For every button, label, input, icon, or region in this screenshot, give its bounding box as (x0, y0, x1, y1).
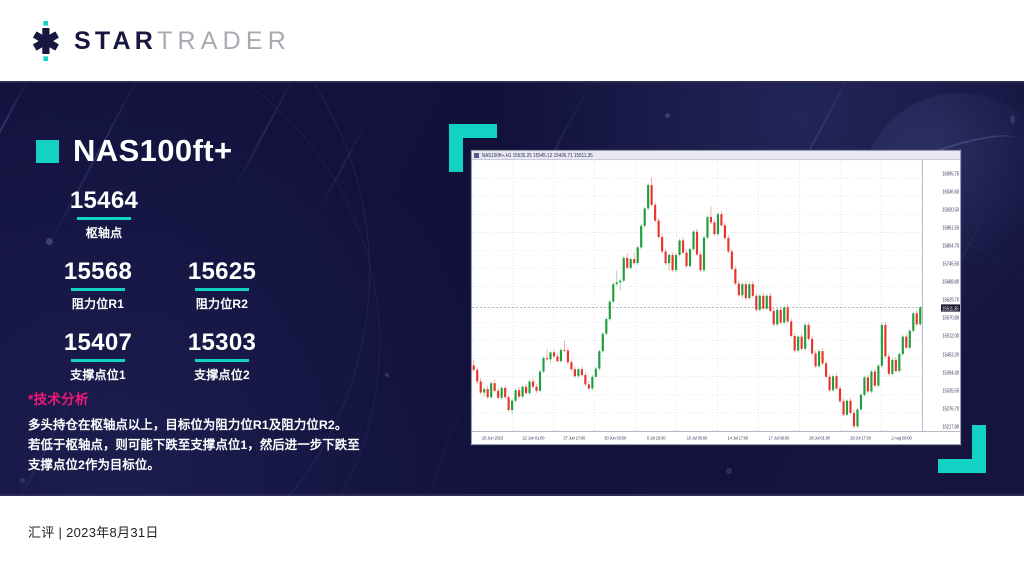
resistance-1-block: 15568 阻力位R1 (36, 259, 160, 312)
price-tick-label: 15688.80 (942, 279, 959, 285)
price-tick-label: 15217.80 (942, 423, 959, 429)
chart-window-icon (474, 153, 479, 158)
chart-price-axis: 16095.7516036.6015920.5015861.5015804.70… (922, 160, 960, 431)
value-underline (71, 359, 125, 362)
time-tick-label: 22 Jun 01:00 (522, 435, 544, 441)
price-tick-label: 15629.70 (942, 297, 959, 303)
analysis-line-2: 若低于枢轴点，则可能下跌至支撑点位1，然后进一步下跌至 (28, 435, 408, 455)
current-price-label: 15511.35 (941, 305, 959, 312)
brand-name-light: TRADER (157, 27, 291, 56)
price-tick-label: 15804.70 (942, 243, 959, 249)
time-tick-label: 10 Jul 05:00 (687, 435, 708, 441)
chart-titlebar-text: NAS100ft+,H1 15535.25 15545.12 15495.71 … (482, 152, 593, 158)
price-tick-label: 15512.00 (942, 333, 959, 339)
resistance-2-value: 15625 (160, 259, 284, 285)
title-bullet-square-icon (36, 140, 59, 163)
resistance-2-label: 阻力位R2 (160, 295, 284, 312)
time-tick-label: 26 Jul 01:00 (809, 435, 830, 441)
time-tick-label: 29 Jul 17:00 (850, 435, 871, 441)
brand-logo: STAR TRADER (28, 21, 291, 61)
chart-titlebar: NAS100ft+,H1 15535.25 15545.12 15495.71 … (472, 151, 960, 160)
price-tick-label: 16095.75 (942, 170, 959, 176)
resistance-1-value: 15568 (36, 259, 160, 285)
footer-divider (0, 494, 1024, 496)
value-underline (195, 288, 249, 291)
pivot-point-value: 15464 (42, 188, 166, 214)
analysis-line-1: 多头持仓在枢轴点以上，目标位为阻力位R1及阻力位R2。 (28, 415, 408, 435)
instrument-symbol: NAS100ft+ (73, 133, 233, 169)
pivot-point-block: 15464 枢轴点 (42, 188, 166, 241)
glow-dot-decoration (665, 113, 670, 118)
slide-root: STAR TRADER NAS100ft+ (0, 0, 1024, 576)
support-1-label: 支撑点位1 (36, 366, 160, 383)
footer: 汇评 | 2023年8月31日 (0, 494, 1024, 576)
header: STAR TRADER (0, 0, 1024, 82)
price-tick-label: 15570.80 (942, 315, 959, 321)
pivot-point-label: 枢轴点 (42, 224, 166, 241)
analysis-line-3: 支撑点位2作为目标位。 (28, 455, 408, 475)
instrument-title: NAS100ft+ (36, 133, 233, 169)
footer-caption: 汇评 | 2023年8月31日 (28, 522, 159, 541)
time-tick-label: 30 Jun 03:00 (604, 435, 626, 441)
technical-analysis: *技术分析 多头持仓在枢轴点以上，目标位为阻力位R1及阻力位R2。 若低于枢轴点… (28, 388, 408, 475)
time-tick-label: 14 Jul 17:00 (728, 435, 749, 441)
glow-dot-decoration (20, 478, 25, 483)
value-underline (77, 217, 131, 220)
price-tick-label: 16036.60 (942, 188, 959, 194)
brand-wordmark: STAR TRADER (74, 27, 291, 56)
support-1-value: 15407 (36, 330, 160, 356)
glow-dot-decoration (726, 468, 732, 474)
glow-dot-decoration (385, 373, 389, 377)
price-tick-label: 15335.50 (942, 387, 959, 393)
time-tick-label: 20 Jun 2023 (482, 435, 503, 441)
support-2-label: 支撑点位2 (160, 366, 284, 383)
price-tick-label: 15453.20 (942, 351, 959, 357)
chart-time-axis: 20 Jun 202322 Jun 01:0027 Jun 17:0030 Ju… (472, 431, 960, 444)
chart-plot-area (472, 160, 922, 431)
resistance-2-block: 15625 阻力位R2 (160, 259, 284, 312)
resistance-1-label: 阻力位R1 (36, 295, 160, 312)
support-2-value: 15303 (160, 330, 284, 356)
glow-dot-decoration (1010, 115, 1015, 124)
support-1-block: 15407 支撑点位1 (36, 330, 160, 383)
price-tick-label: 15394.30 (942, 369, 959, 375)
price-chart-window[interactable]: NAS100ft+,H1 15535.25 15545.12 15495.71 … (471, 150, 961, 445)
support-2-block: 15303 支撑点位2 (160, 330, 284, 383)
brand-name-bold: STAR (74, 27, 157, 56)
pivot-levels: 15464 枢轴点 15568 阻力位R1 15625 阻力位R2 15407 … (36, 188, 296, 391)
value-underline (195, 359, 249, 362)
price-tick-label: 15861.50 (942, 225, 959, 231)
analysis-heading: *技术分析 (28, 388, 408, 408)
price-tick-label: 15745.50 (942, 261, 959, 267)
star-asterisk-icon (28, 21, 64, 61)
time-tick-label: 27 Jun 17:00 (563, 435, 585, 441)
price-tick-label: 15276.70 (942, 405, 959, 411)
price-tick-label: 15920.50 (942, 207, 959, 213)
value-underline (71, 288, 125, 291)
time-tick-label: 5 Jul 19:00 (647, 435, 665, 441)
candlestick-series (472, 160, 922, 431)
time-tick-label: 2 Aug 09:00 (891, 435, 911, 441)
time-tick-label: 17 Jul 09:00 (768, 435, 789, 441)
